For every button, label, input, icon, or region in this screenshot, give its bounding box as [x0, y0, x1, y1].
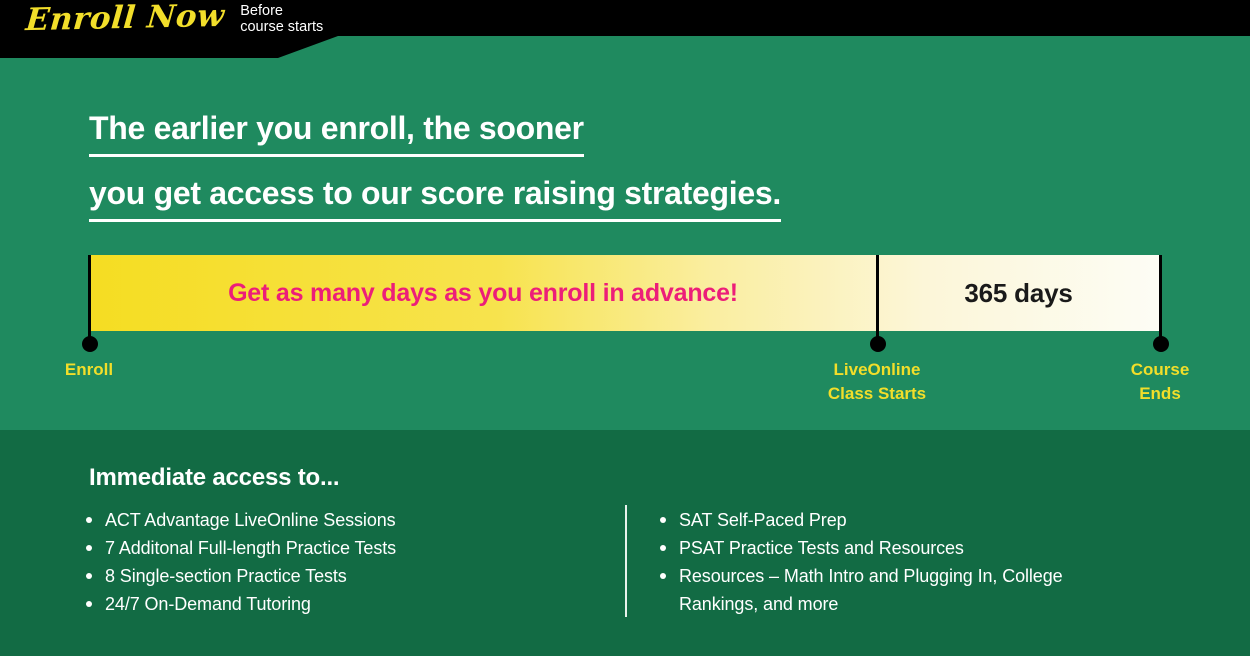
banner-subtitle-line2: course starts: [240, 19, 323, 35]
timeline-dot-icon: [870, 336, 886, 352]
list-item: 8 Single-section Practice Tests: [86, 562, 606, 590]
timeline-dot-icon: [82, 336, 98, 352]
banner-subtitle: Before course starts: [240, 1, 323, 35]
brand-enroll-now-logo: Enroll Now: [24, 0, 225, 35]
timeline-caption-liveonline-line1: LiveOnline: [828, 358, 926, 382]
benefits-section: Immediate access to... ACT Advantage Liv…: [0, 430, 1250, 656]
benefits-right-list: SAT Self-Paced Prep PSAT Practice Tests …: [660, 506, 1140, 618]
timeline-marker-course-ends: [1159, 255, 1162, 346]
enrollment-timeline: Get as many days as you enroll in advanc…: [0, 255, 1250, 430]
list-item: 7 Additonal Full-length Practice Tests: [86, 534, 606, 562]
timeline-left-label: Get as many days as you enroll in advanc…: [89, 255, 877, 331]
headline-block: The earlier you enroll, the sooner you g…: [89, 108, 1139, 222]
timeline-dot-icon: [1153, 336, 1169, 352]
timeline-marker-liveonline: [876, 255, 879, 346]
benefits-right-column: SAT Self-Paced Prep PSAT Practice Tests …: [660, 506, 1140, 618]
timeline-caption-course-ends-line1: Course: [1131, 358, 1190, 382]
list-item: SAT Self-Paced Prep: [660, 506, 1140, 534]
benefits-left-column: ACT Advantage LiveOnline Sessions 7 Addi…: [86, 506, 606, 618]
list-item: ACT Advantage LiveOnline Sessions: [86, 506, 606, 534]
timeline-caption-enroll: Enroll: [65, 358, 113, 382]
timeline-caption-course-ends-line2: Ends: [1131, 382, 1190, 406]
top-banner: Enroll Now Before course starts: [0, 0, 1250, 58]
timeline-caption-liveonline: LiveOnline Class Starts: [828, 358, 926, 406]
banner-subtitle-line1: Before: [240, 3, 323, 19]
timeline-caption-course-ends: Course Ends: [1131, 358, 1190, 406]
column-divider: [625, 505, 627, 617]
timeline-right-label: 365 days: [877, 255, 1160, 331]
benefits-left-list: ACT Advantage LiveOnline Sessions 7 Addi…: [86, 506, 606, 618]
benefits-title: Immediate access to...: [89, 464, 339, 492]
list-item: Resources – Math Intro and Plugging In, …: [660, 562, 1140, 618]
list-item: PSAT Practice Tests and Resources: [660, 534, 1140, 562]
hero-section: The earlier you enroll, the sooner you g…: [0, 58, 1250, 430]
timeline-caption-liveonline-line2: Class Starts: [828, 382, 926, 406]
timeline-caption-enroll-line1: Enroll: [65, 358, 113, 382]
list-item: 24/7 On-Demand Tutoring: [86, 590, 606, 618]
timeline-marker-enroll: [88, 255, 91, 346]
headline-line-1: The earlier you enroll, the sooner: [89, 108, 584, 157]
banner-content: Enroll Now Before course starts: [0, 0, 323, 36]
headline-line-2: you get access to our score raising stra…: [89, 173, 781, 222]
